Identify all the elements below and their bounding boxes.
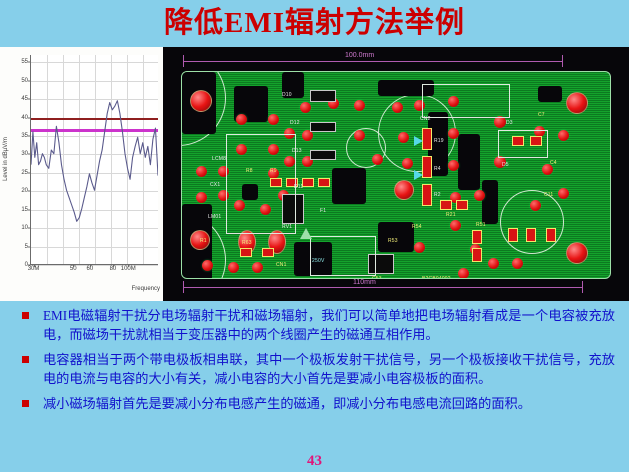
silk-label: D3 bbox=[506, 120, 513, 126]
via-pad bbox=[252, 262, 263, 273]
square-bullet-icon bbox=[22, 400, 29, 407]
silk-label: R1 bbox=[200, 238, 207, 244]
silk-label: C53 bbox=[372, 276, 382, 279]
page-number: 43 bbox=[0, 453, 629, 470]
via-pad bbox=[392, 102, 403, 113]
silk-label: LM01 bbox=[208, 214, 221, 220]
silk-label: C11 bbox=[544, 192, 553, 198]
silk-outline-cn2 bbox=[422, 84, 510, 118]
silk-label: R8 bbox=[246, 168, 253, 174]
bottom-dimension-tick-right bbox=[582, 281, 583, 293]
via-pad bbox=[402, 158, 413, 169]
chart-x-tick-mark bbox=[73, 264, 74, 267]
via-pad bbox=[196, 192, 207, 203]
axial-component bbox=[310, 150, 336, 160]
via-pad bbox=[236, 114, 247, 125]
silk-label: R21 bbox=[446, 212, 456, 218]
via-pad bbox=[228, 262, 239, 273]
gridline-horizontal bbox=[31, 265, 158, 266]
top-dimension-line bbox=[183, 61, 563, 62]
chart-x-tick-mark bbox=[128, 264, 129, 267]
silk-label: R19 bbox=[434, 138, 444, 144]
chart-y-tick-mark bbox=[28, 117, 31, 118]
via-pad bbox=[558, 188, 569, 199]
smd-resistor bbox=[302, 178, 314, 187]
silk-label: D11 bbox=[294, 184, 303, 190]
silk-label: B2CB04002 bbox=[422, 276, 451, 279]
smd-resistor bbox=[422, 184, 432, 206]
silk-label: R9 bbox=[270, 168, 277, 174]
via-pad bbox=[414, 242, 425, 253]
via-pad bbox=[354, 130, 365, 141]
chart-x-tick-mark bbox=[113, 264, 114, 267]
chart-y-tick-mark bbox=[28, 99, 31, 100]
bullet-text: 电容器相当于两个带电极板相串联，其中一个极板发射干扰信号，另一个极板接收干扰信号… bbox=[43, 350, 615, 388]
smd-resistor bbox=[508, 228, 518, 242]
silk-outline-3 bbox=[498, 130, 548, 158]
chart-y-tick-mark bbox=[28, 172, 31, 173]
axial-component bbox=[310, 122, 336, 132]
warning-triangle-icon bbox=[300, 228, 312, 239]
mounting-pad-1 bbox=[190, 90, 212, 112]
silk-label: R53 bbox=[388, 238, 398, 244]
chart-y-tick-mark bbox=[28, 191, 31, 192]
chart-y-tick-mark bbox=[28, 80, 31, 81]
via-pad bbox=[512, 258, 523, 269]
via-pad bbox=[300, 102, 311, 113]
copper-void-10 bbox=[378, 222, 414, 252]
smd-resistor bbox=[472, 248, 482, 262]
diode-arrow-1 bbox=[414, 136, 423, 146]
smd-resistor bbox=[318, 178, 330, 187]
terminal-pad-3 bbox=[394, 180, 414, 200]
pcb-board: LCM8 CX1 LM01 D10 D12 D13 D11 R8 R9 RV1 … bbox=[181, 71, 611, 279]
via-pad bbox=[450, 220, 461, 231]
chart-plot-area: 0510152025303540455055 30M506080100M bbox=[30, 55, 158, 265]
square-bullet-icon bbox=[22, 356, 29, 363]
chart-y-tick-mark bbox=[28, 136, 31, 137]
page-title: 降低EMI辐射方法举例 bbox=[0, 4, 629, 42]
bottom-dimension-tick-left bbox=[183, 281, 184, 293]
via-pad bbox=[196, 166, 207, 177]
silk-label: 250V bbox=[312, 258, 324, 264]
via-pad bbox=[488, 258, 499, 269]
silk-label: F1 bbox=[320, 208, 326, 214]
list-item: 电容器相当于两个带电极板相串联，其中一个极板发射干扰信号，另一个极板接收干扰信号… bbox=[14, 350, 615, 388]
silk-label: LCM8 bbox=[212, 156, 226, 162]
bullet-list: EMI电磁辐射干扰分电场辐射干扰和磁场辐射，我们可以简单地把电场辐射看成是一个电… bbox=[0, 306, 629, 419]
smd-resistor bbox=[526, 228, 536, 242]
media-strip: Level in dBµV/m Frequency 05101520253035… bbox=[0, 47, 629, 301]
silk-label: R63 bbox=[242, 240, 252, 246]
via-pad bbox=[202, 260, 213, 271]
top-dimension-label: 100.0mm bbox=[345, 52, 374, 59]
pcb-layout-image: 100.0mm 110mm bbox=[163, 47, 629, 301]
silk-label: CN2 bbox=[420, 116, 431, 122]
smd-resistor bbox=[262, 248, 274, 257]
emi-spectrum-chart: Level in dBµV/m Frequency 05101520253035… bbox=[0, 47, 163, 301]
smd-resistor bbox=[422, 156, 432, 178]
via-pad bbox=[474, 190, 485, 201]
chart-y-tick-mark bbox=[28, 228, 31, 229]
silk-arc-right bbox=[500, 190, 564, 254]
list-item: 减小磁场辐射首先是要减小分布电感产生的磁通，即减小分布电感电流回路的面积。 bbox=[14, 394, 615, 413]
copper-void-5 bbox=[332, 168, 366, 204]
silk-label: D12 bbox=[290, 120, 300, 126]
copper-void-12 bbox=[482, 180, 498, 224]
chart-y-tick-mark bbox=[28, 209, 31, 210]
copper-void-8 bbox=[458, 134, 480, 190]
chart-y-tick-mark bbox=[28, 154, 31, 155]
silk-label: R54 bbox=[412, 224, 422, 230]
via-pad bbox=[354, 100, 365, 111]
chart-x-tick-mark bbox=[34, 264, 35, 267]
bullet-text: 减小磁场辐射首先是要减小分布电感产生的磁通，即减小分布电感电流回路的面积。 bbox=[43, 394, 615, 413]
smd-resistor bbox=[240, 248, 252, 257]
silk-outline-1 bbox=[226, 134, 296, 234]
top-dimension-tick-left bbox=[183, 55, 184, 67]
via-pad bbox=[458, 268, 469, 279]
via-pad bbox=[448, 128, 459, 139]
silk-label: CX1 bbox=[210, 182, 220, 188]
via-pad bbox=[530, 200, 541, 211]
square-bullet-icon bbox=[22, 312, 29, 319]
silk-label: R4 bbox=[434, 166, 441, 172]
silk-outline-2 bbox=[310, 236, 376, 276]
smd-resistor bbox=[456, 200, 468, 210]
silk-label: RV1 bbox=[282, 224, 292, 230]
smd-resistor bbox=[422, 128, 432, 150]
via-pad bbox=[268, 114, 279, 125]
smd-resistor bbox=[440, 200, 452, 210]
silk-label: C7 bbox=[538, 112, 545, 118]
via-pad bbox=[558, 130, 569, 141]
mounting-pad-4 bbox=[566, 242, 588, 264]
axial-component bbox=[310, 90, 336, 102]
bottom-dimension-line bbox=[183, 287, 583, 288]
chart-x-tick-mark bbox=[90, 264, 91, 267]
copper-void-11 bbox=[538, 86, 562, 102]
chart-y-tick-mark bbox=[28, 62, 31, 63]
silk-label: D13 bbox=[292, 148, 302, 154]
chart-y-tick-mark bbox=[28, 246, 31, 247]
chart-y-axis-label: Level in dBµV/m bbox=[3, 137, 9, 181]
silk-label: D5 bbox=[502, 162, 509, 168]
diode-arrow-2 bbox=[414, 170, 423, 180]
bottom-dimension-label: 110mm bbox=[353, 279, 376, 286]
smd-resistor bbox=[546, 228, 556, 242]
silk-label: R51 bbox=[476, 222, 486, 228]
via-pad bbox=[372, 154, 383, 165]
silk-label: C4 bbox=[550, 160, 557, 166]
via-pad bbox=[448, 160, 459, 171]
silk-label: CN1 bbox=[276, 262, 287, 268]
silk-label: R2 bbox=[434, 192, 441, 198]
smd-resistor bbox=[472, 230, 482, 244]
list-item: EMI电磁辐射干扰分电场辐射干扰和磁场辐射，我们可以简单地把电场辐射看成是一个电… bbox=[14, 306, 615, 344]
chart-x-axis-label: Frequency bbox=[132, 286, 160, 292]
via-pad bbox=[398, 132, 409, 143]
silk-label: D10 bbox=[282, 92, 292, 98]
bullet-text: EMI电磁辐射干扰分电场辐射干扰和磁场辐射，我们可以简单地把电场辐射看成是一个电… bbox=[43, 306, 615, 344]
mounting-pad-3 bbox=[566, 92, 588, 114]
top-dimension-tick-right bbox=[562, 55, 563, 67]
chart-trace bbox=[31, 55, 158, 263]
